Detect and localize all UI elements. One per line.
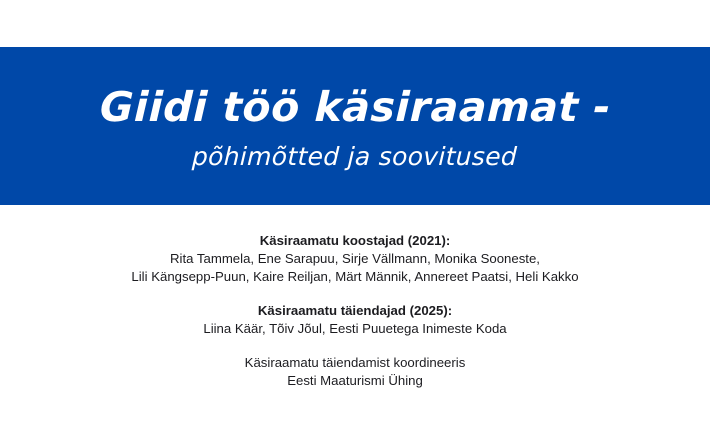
credits-heading: Käsiraamatu täiendajad (2025): [0,302,710,320]
credits-section: Käsiraamatu koostajad (2021): Rita Tamme… [0,232,710,390]
credits-line: Rita Tammela, Ene Sarapuu, Sirje Vällman… [0,250,710,268]
page-subtitle: põhimõtted ja soovitused [192,143,518,171]
credits-line: Käsiraamatu täiendamist koordineeris [0,354,710,372]
credits-line: Lili Kängsepp-Puun, Kaire Reiljan, Märt … [0,268,710,286]
credits-heading: Käsiraamatu koostajad (2021): [0,232,710,250]
page-title: Giidi töö käsiraamat - [99,85,611,129]
credits-block-coordinator: Käsiraamatu täiendamist koordineeris Ees… [0,354,710,390]
credits-block-compilers: Käsiraamatu koostajad (2021): Rita Tamme… [0,232,710,286]
credits-block-updaters: Käsiraamatu täiendajad (2025): Liina Kää… [0,302,710,338]
hero-banner: Giidi töö käsiraamat - põhimõtted ja soo… [0,47,710,205]
credits-line: Liina Käär, Tõiv Jõul, Eesti Puuetega In… [0,320,710,338]
title-page: Giidi töö käsiraamat - põhimõtted ja soo… [0,0,710,425]
credits-line: Eesti Maaturismi Ühing [0,372,710,390]
